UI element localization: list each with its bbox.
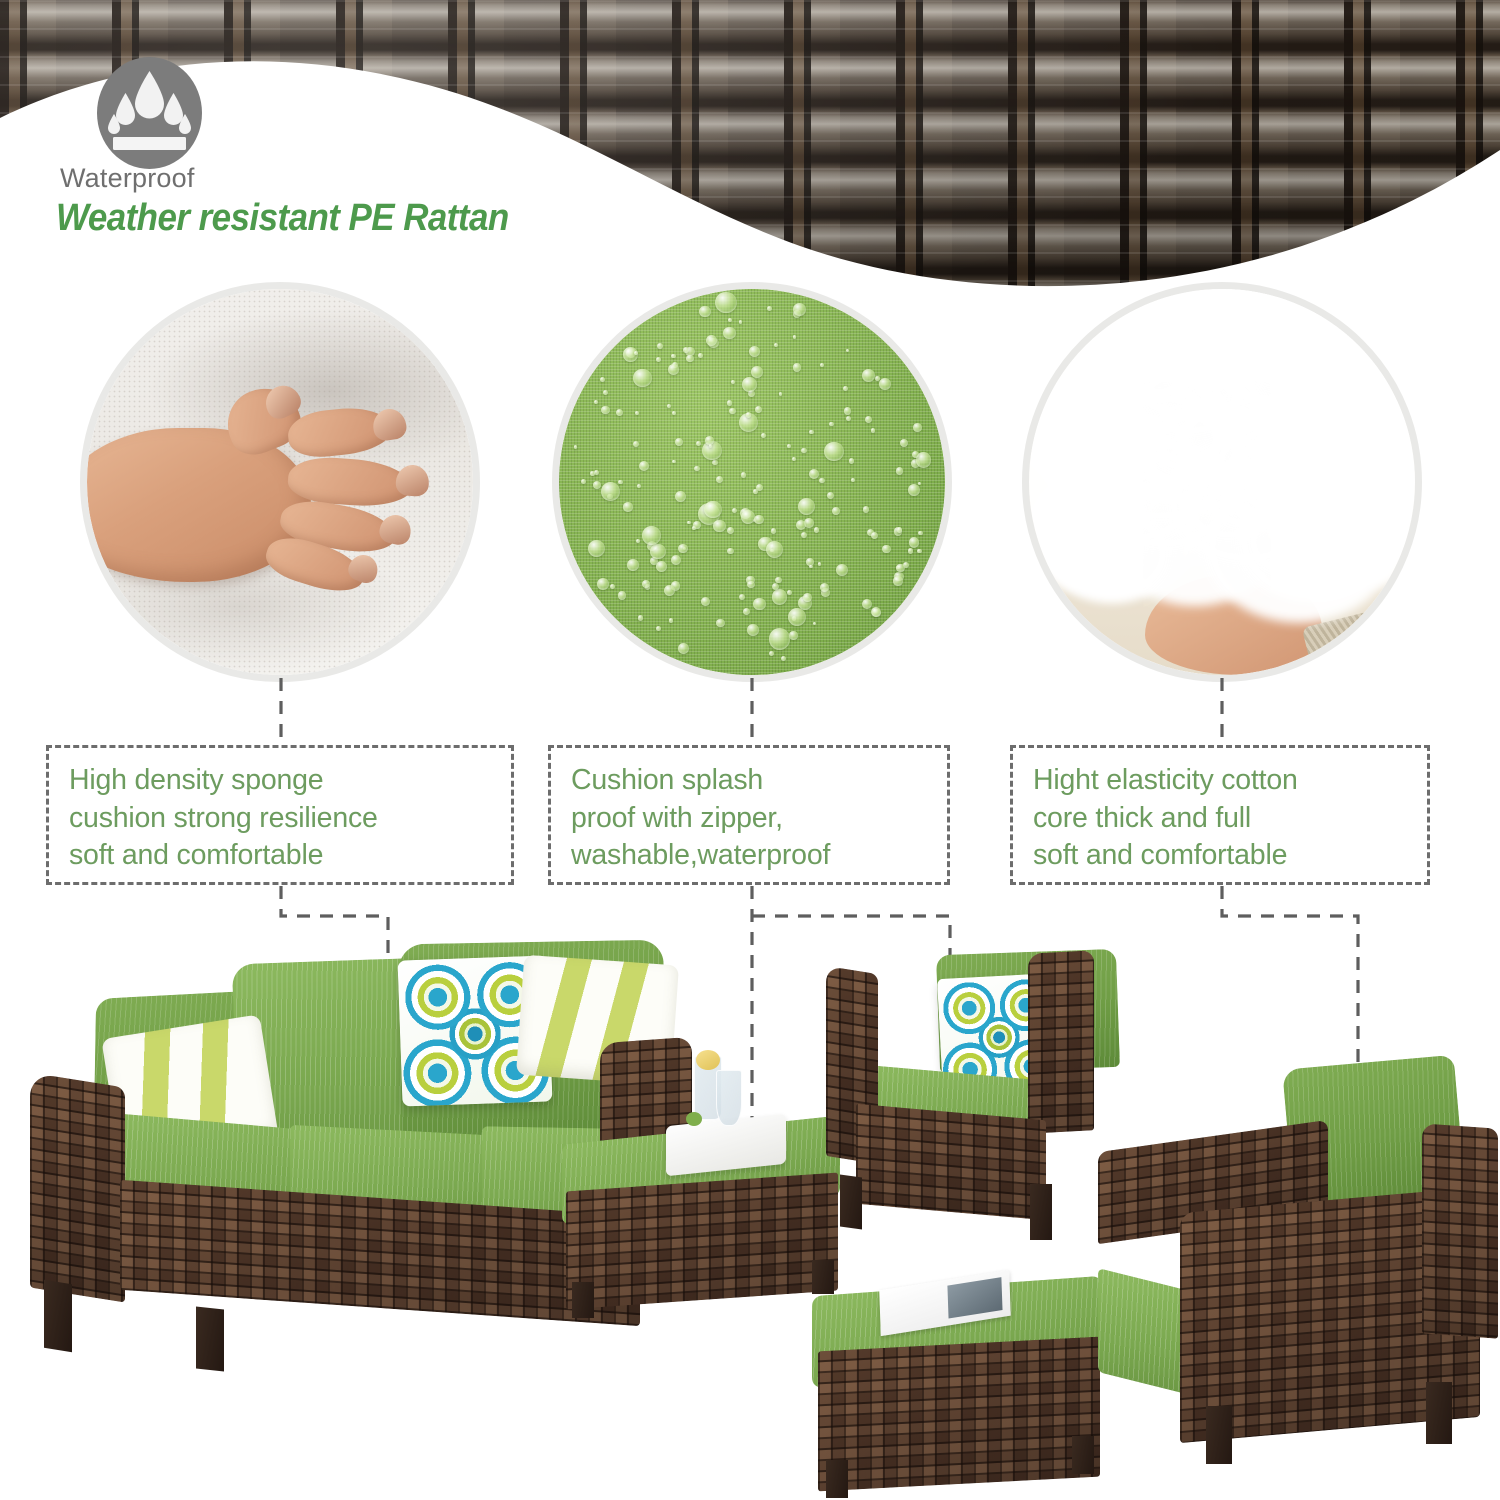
waterproof-label: Waterproof [60, 163, 195, 194]
feature-image-splash-proof-fabric [552, 282, 952, 682]
waterproof-droplet-icon [97, 57, 202, 169]
feature-image-high-density-sponge [80, 282, 480, 682]
feature-image-elasticity-cotton [1022, 282, 1422, 682]
caption-splash-proof-cushion: Cushion splash proof with zipper, washab… [548, 745, 950, 885]
caption-text: Hight elasticity cotton core thick and f… [1033, 762, 1411, 875]
caption-high-elasticity-cotton: Hight elasticity cotton core thick and f… [1010, 745, 1430, 885]
product-feature-infographic: Waterproof Weather resistant PE Rattan [0, 0, 1500, 1500]
caption-text: Cushion splash proof with zipper, washab… [571, 762, 931, 875]
page-headline: Weather resistant PE Rattan [56, 197, 509, 240]
caption-high-density-sponge: High density sponge cushion strong resil… [46, 745, 514, 885]
patio-furniture-set-photo [0, 930, 1500, 1500]
caption-text: High density sponge cushion strong resil… [69, 762, 495, 875]
